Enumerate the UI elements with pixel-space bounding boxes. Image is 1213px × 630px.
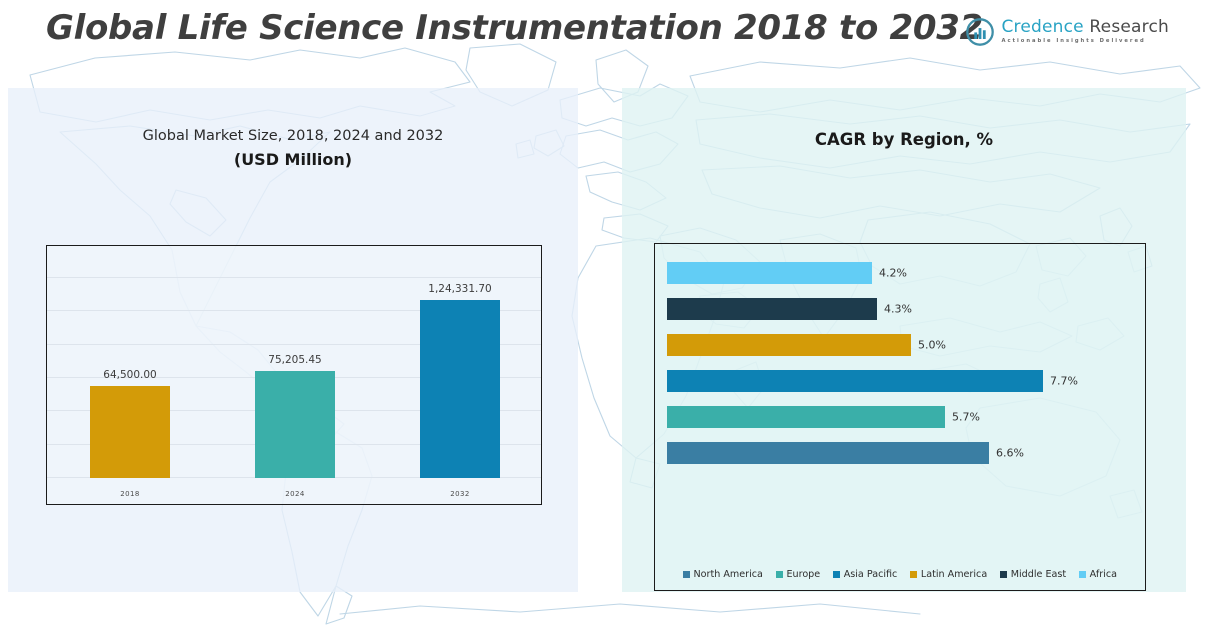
legend-label: Europe [786,569,820,580]
column-value-label: 64,500.00 [103,369,156,381]
legend-item[interactable]: Middle East [1000,569,1066,580]
column-category-label: 2018 [120,490,139,498]
legend-label: Latin America [921,569,987,580]
legend-swatch [776,571,783,578]
horizontal-bar-row: 4.3% [667,298,1147,320]
column-bar [90,386,170,478]
page-title: Global Life Science Instrumentation 2018… [46,8,983,48]
horizontal-bar-value-label: 7.7% [1050,375,1078,388]
left-panel-title-line2: (USD Million) [8,150,578,169]
horizontal-bar [667,298,877,320]
legend-swatch [910,571,917,578]
column-bar-group: 1,24,331.702032 [420,300,500,478]
legend-item[interactable]: Europe [776,569,820,580]
logo-text: Credence Research Actionable Insights De… [1001,19,1169,44]
legend-label: Africa [1090,569,1117,580]
legend-item[interactable]: North America [683,569,763,580]
infographic-root: Global Life Science Instrumentation 2018… [0,0,1213,630]
horizontal-bar-value-label: 5.7% [952,411,980,424]
horizontal-bar [667,262,872,284]
legend-label: Middle East [1011,569,1066,580]
column-category-label: 2024 [285,490,304,498]
horizontal-bar-value-label: 6.6% [996,447,1024,460]
horizontal-bar-row: 5.0% [667,334,1147,356]
cagr-by-region-bar-chart: 4.2%4.3%5.0%7.7%5.7%6.6% North AmericaEu… [654,243,1146,591]
legend-item[interactable]: Asia Pacific [833,569,897,580]
legend-swatch [683,571,690,578]
horizontal-bar [667,334,911,356]
header: Global Life Science Instrumentation 2018… [0,0,1213,62]
legend-label: North America [693,569,762,580]
logo-tagline: Actionable Insights Delivered [1001,39,1169,44]
horizontal-bar [667,370,1043,392]
horizontal-bar-value-label: 4.3% [884,303,912,316]
bar-chart-circle-icon [966,18,994,46]
horizontal-bar [667,406,945,428]
column-plot-area: 64,500.00201875,205.4520241,24,331.70203… [47,246,541,504]
horizontal-bar-value-label: 4.2% [879,267,907,280]
chart-legend: North AmericaEuropeAsia PacificLatin Ame… [655,569,1145,580]
column-category-label: 2032 [450,490,469,498]
column-value-label: 1,24,331.70 [428,283,491,295]
market-size-column-chart: 64,500.00201875,205.4520241,24,331.70203… [46,245,542,505]
column-value-label: 75,205.45 [268,354,321,366]
legend-swatch [1079,571,1086,578]
logo-name-part1: Credence [1001,17,1083,37]
credence-research-logo[interactable]: Credence Research Actionable Insights De… [966,14,1169,50]
gridline [47,277,541,278]
horizontal-bar-row: 5.7% [667,406,1147,428]
horizontal-bar [667,442,989,464]
column-bar-group: 64,500.002018 [90,386,170,478]
logo-name: Credence Research [1001,19,1169,36]
legend-swatch [833,571,840,578]
horizontal-bar-row: 4.2% [667,262,1147,284]
column-bar-group: 75,205.452024 [255,371,335,478]
left-panel: Global Market Size, 2018, 2024 and 2032 … [8,88,578,592]
horizontal-bar-plot-area: 4.2%4.3%5.0%7.7%5.7%6.6% [655,244,1145,590]
horizontal-bar-row: 6.6% [667,442,1147,464]
column-bar [255,371,335,478]
right-panel-title: CAGR by Region, % [622,130,1186,149]
horizontal-bar-value-label: 5.0% [918,339,946,352]
horizontal-bar-row: 7.7% [667,370,1147,392]
legend-swatch [1000,571,1007,578]
legend-label: Asia Pacific [844,569,898,580]
legend-item[interactable]: Latin America [910,569,987,580]
legend-item[interactable]: Africa [1079,569,1117,580]
logo-name-part2: Research [1089,17,1169,37]
left-panel-title-line1: Global Market Size, 2018, 2024 and 2032 [8,128,578,144]
right-panel: CAGR by Region, % 4.2%4.3%5.0%7.7%5.7%6.… [622,88,1186,592]
column-bar [420,300,500,478]
